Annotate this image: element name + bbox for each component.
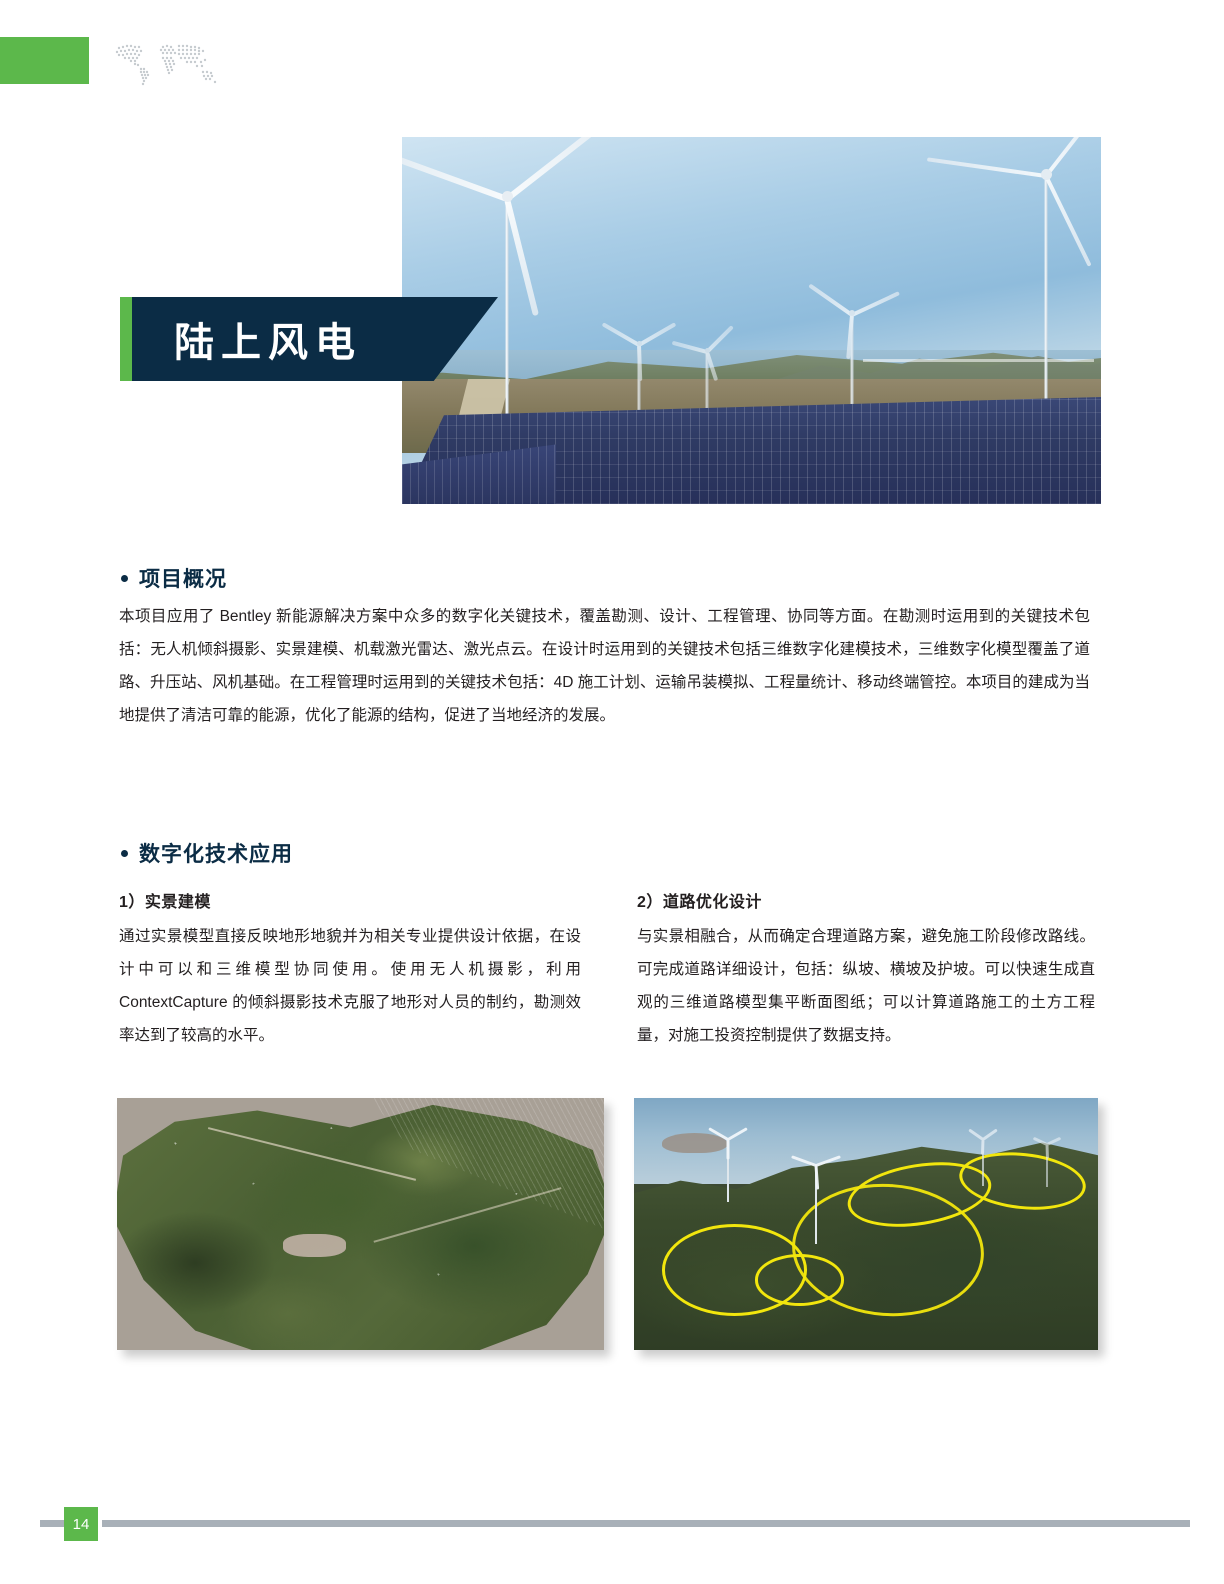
paragraph-road-optimization: 与实景相融合，从而确定合理道路方案，避免施工阶段修改路线。可完成道路详细设计，包… xyxy=(637,920,1095,1052)
header-green-bar xyxy=(0,37,89,84)
world-map-dots-icon xyxy=(105,38,230,87)
paragraph-reality-modeling: 通过实景模型直接反映地形地貌并为相关专业提供设计依据，在设计中可以和三维模型协同… xyxy=(119,920,581,1052)
section-heading-technology: 数字化技术应用 xyxy=(121,838,293,868)
road-alignment-overlay-image xyxy=(634,1098,1098,1350)
wind-turbine-icon xyxy=(1033,1143,1061,1187)
sub-heading-reality-modeling: 1）实景建模 xyxy=(119,888,211,912)
wind-turbine-icon xyxy=(968,1138,998,1186)
section-heading-overview-label: 项目概况 xyxy=(139,563,227,593)
page-number-badge: 14 xyxy=(64,1507,98,1541)
bullet-dot-icon xyxy=(121,575,128,582)
page-header xyxy=(0,0,1224,130)
wind-turbine-icon xyxy=(792,1164,840,1244)
sub-heading-road-optimization: 2）道路优化设计 xyxy=(637,888,762,912)
bullet-dot-icon xyxy=(121,850,128,857)
section-heading-overview: 项目概况 xyxy=(121,563,227,593)
footer-rule-right xyxy=(102,1520,1190,1527)
wind-turbine-icon xyxy=(835,313,869,408)
page-title: 陆上风电 xyxy=(174,310,362,368)
title-accent-bar xyxy=(120,297,132,381)
wind-turbine-icon xyxy=(708,1138,748,1202)
wind-turbine-icon xyxy=(1017,174,1075,424)
reality-mesh-terrain-model-image xyxy=(117,1098,604,1350)
overview-paragraph: 本项目应用了 Bentley 新能源解决方案中众多的数字化关键技术，覆盖勘测、设… xyxy=(119,600,1090,732)
wind-farm-and-solar-array-photo xyxy=(402,137,1101,504)
page-title-banner: 陆上风电 xyxy=(120,297,498,381)
mesh-point-cloud-speckle xyxy=(117,1098,604,1350)
section-heading-technology-label: 数字化技术应用 xyxy=(139,838,293,868)
page-footer: 14 xyxy=(0,1506,1224,1546)
